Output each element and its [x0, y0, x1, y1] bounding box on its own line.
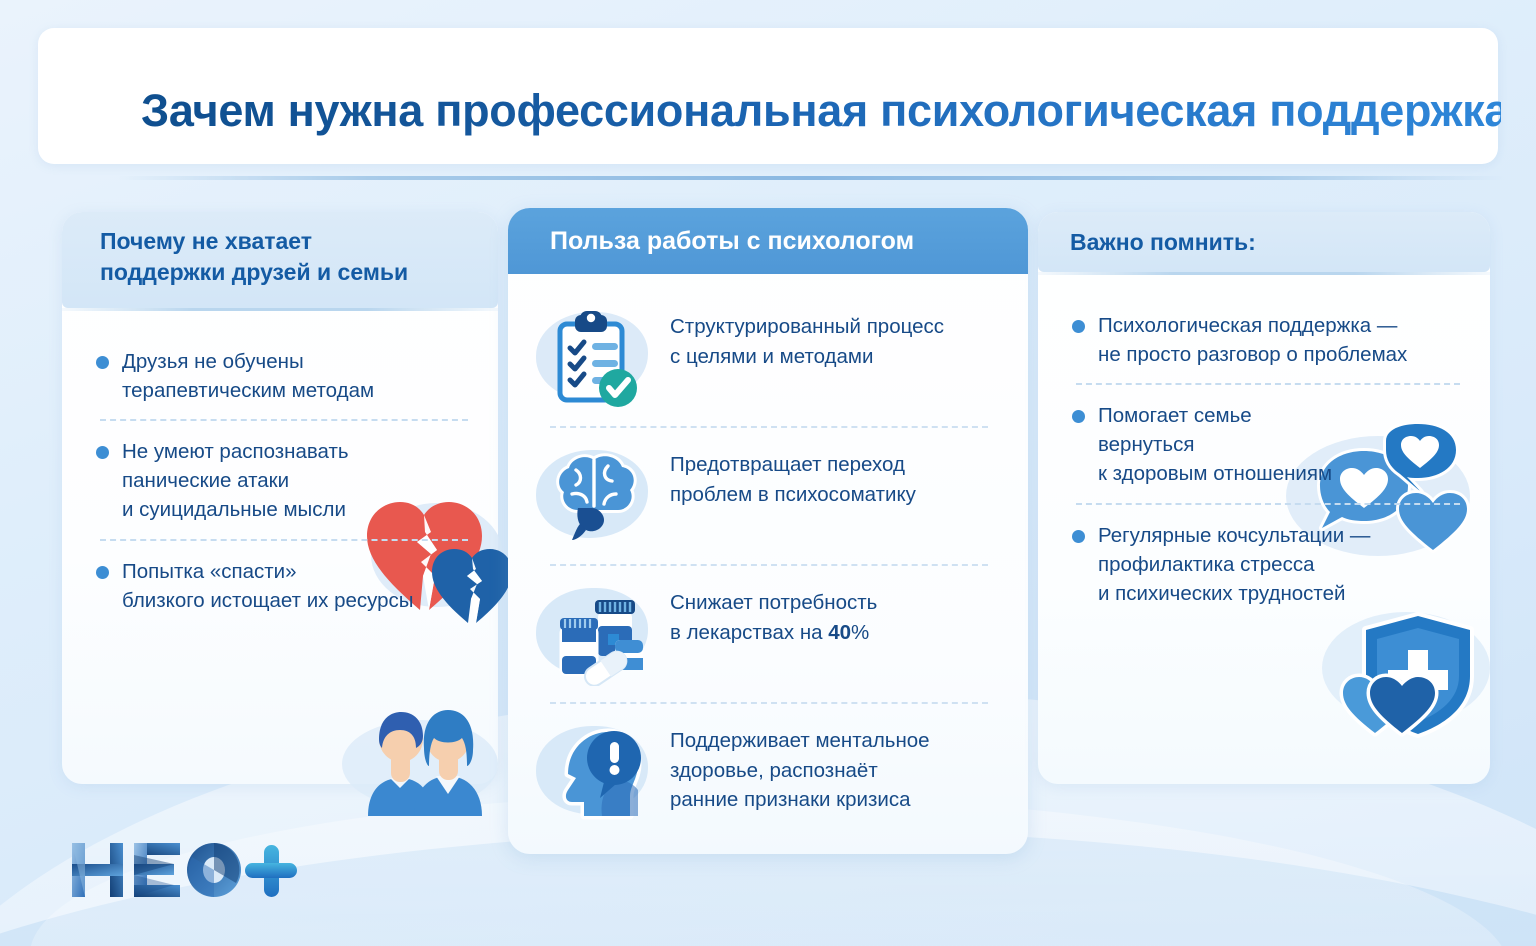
line2: с целями и методами [670, 345, 873, 368]
left-card: Почему не хватает поддержки друзей и сем… [62, 212, 498, 784]
right-card-list: Психологическая поддержка — не просто ра… [1038, 275, 1490, 620]
list-divider [100, 419, 468, 421]
logo-letter-o [187, 843, 241, 897]
list-divider [1076, 383, 1460, 385]
list-item[interactable]: Попытка «спасти» близкого истощает их ре… [96, 543, 472, 627]
middle-card: Польза работы с психологом [508, 208, 1028, 854]
line3: ранние признаки кризиса [670, 788, 911, 811]
left-card-heading-line2: поддержки друзей и семьи [100, 257, 470, 288]
bullet-dot-icon [96, 446, 109, 459]
line2: проблем в психосоматику [670, 483, 916, 506]
bullet-dot-icon [96, 566, 109, 579]
list-item[interactable]: Структурированный процесс с целями и мет… [530, 290, 1002, 426]
list-item-text: Регулярные кочсультации — профилактика с… [1098, 521, 1370, 608]
list-item-text: Снижает потребность в лекарствах на 40% [670, 578, 877, 647]
line1: Помогает семье [1098, 404, 1252, 427]
brain-icon [534, 440, 652, 552]
bullet-dot-icon [1072, 320, 1085, 333]
list-item-text: Предотвращает переход проблем в психосом… [670, 440, 916, 509]
line1: Структурированный процесс [670, 315, 944, 338]
list-item[interactable]: Предотвращает переход проблем в психосом… [530, 428, 1002, 564]
list-item[interactable]: Друзья не обучены терапевтическим метода… [96, 333, 472, 417]
logo-plus-icon [245, 845, 297, 897]
line2: терапевтическим методам [122, 379, 374, 402]
brand-logo[interactable] [68, 837, 298, 903]
list-item-text: Помогает семье вернуться к здоровым отно… [1098, 401, 1332, 488]
list-item[interactable]: Регулярные кочсультации — профилактика с… [1072, 507, 1464, 620]
bullet-dot-icon [1072, 530, 1085, 543]
list-item[interactable]: Помогает семье вернуться к здоровым отно… [1072, 387, 1464, 500]
list-item[interactable]: Поддерживает ментальное здоровье, распоз… [530, 704, 1002, 840]
line2: близкого истощает их ресурсы [122, 589, 414, 612]
logo-letter-e [134, 843, 180, 897]
list-item-text: Структурированный процесс с целями и мет… [670, 302, 944, 371]
right-card-heading: Важно помнить: [1070, 229, 1256, 256]
list-item-text: Психологическая поддержка — не просто ра… [1098, 311, 1407, 369]
line2-suffix: % [851, 621, 869, 644]
line2: панические атаки [122, 469, 289, 492]
list-divider [1076, 503, 1460, 505]
logo-letter-n [72, 843, 123, 897]
line2: здоровье, распознаёт [670, 759, 878, 782]
list-item-text: Друзья не обучены терапевтическим метода… [122, 347, 374, 405]
line1: Психологическая поддержка — [1098, 314, 1397, 337]
left-card-header: Почему не хватает поддержки друзей и сем… [62, 212, 498, 308]
list-item-text: Попытка «спасти» близкого истощает их ре… [122, 557, 414, 615]
left-card-heading-line1: Почему не хватает [100, 226, 470, 257]
line2: профилактика стресса [1098, 553, 1314, 576]
list-item-text: Поддерживает ментальное здоровье, распоз… [670, 716, 930, 815]
left-card-list: Друзья не обучены терапевтическим метода… [62, 311, 498, 627]
line2: не просто разговор о проблемах [1098, 343, 1407, 366]
line3: к здоровым отношениям [1098, 462, 1332, 485]
right-card-header: Важно помнить: [1038, 212, 1490, 272]
line1: Попытка «спасти» [122, 560, 297, 583]
bullet-dot-icon [96, 356, 109, 369]
middle-card-heading: Польза работы с психологом [550, 227, 914, 256]
line1: Предотвращает переход [670, 453, 905, 476]
title-underline [118, 176, 1508, 180]
bullet-dot-icon [1072, 410, 1085, 423]
right-card: Важно помнить: Психологическая поддержка… [1038, 212, 1490, 784]
line1: Друзья не обучены [122, 350, 304, 373]
pill-reduction-value: 40 [828, 621, 851, 644]
list-item[interactable]: Не умеют распознавать панические атаки и… [96, 423, 472, 536]
list-item-text: Не умеют распознавать панические атаки и… [122, 437, 349, 524]
middle-card-list: Структурированный процесс с целями и мет… [508, 274, 1028, 840]
line1: Поддерживает ментальное [670, 729, 930, 752]
medicine-bottles-icon [534, 578, 652, 690]
line2: вернуться [1098, 433, 1194, 456]
middle-card-header: Польза работы с психологом [508, 208, 1028, 274]
line1: Не умеют распознавать [122, 440, 349, 463]
list-item[interactable]: Психологическая поддержка — не просто ра… [1072, 297, 1464, 381]
line1: Снижает потребность [670, 591, 877, 614]
infographic-page: Зачем нужна профессиональная психологиче… [0, 0, 1536, 946]
page-title: Зачем нужна профессиональная психологиче… [141, 85, 1501, 137]
header-band: Зачем нужна профессиональная психологиче… [38, 28, 1498, 164]
line3: и суицидальные мысли [122, 498, 346, 521]
list-divider [100, 539, 468, 541]
line3: и психических трудностей [1098, 582, 1345, 605]
list-item[interactable]: Снижает потребность в лекарствах на 40% [530, 566, 1002, 702]
clipboard-checklist-icon [534, 302, 652, 414]
head-alert-icon [534, 716, 652, 828]
line2-prefix: в лекарствах на [670, 621, 828, 644]
line1: Регулярные кочсультации — [1098, 524, 1370, 547]
